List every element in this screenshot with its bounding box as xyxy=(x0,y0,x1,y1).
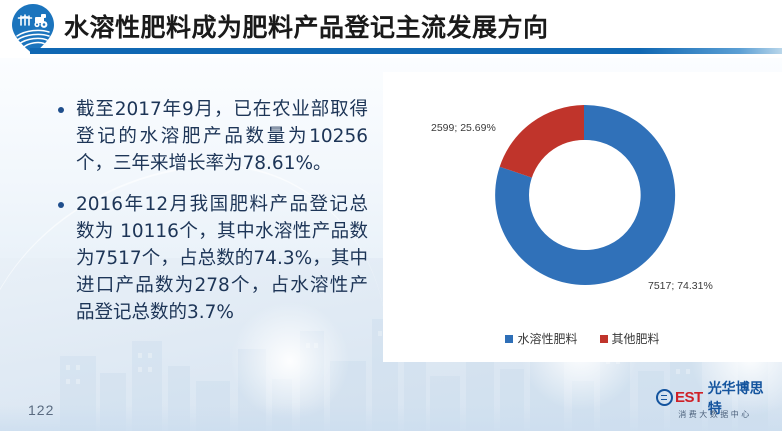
brand-est-text: EST xyxy=(675,389,703,406)
page-title: 水溶性肥料成为肥料产品登记主流发展方向 xyxy=(64,8,549,44)
donut-chart xyxy=(486,97,682,293)
legend-item-other[interactable]: 其他肥料 xyxy=(600,330,660,347)
chart-panel: 2599; 25.69% 7517; 74.31% 水溶性肥料 其他肥料 xyxy=(383,72,782,362)
data-label-other: 2599; 25.69% xyxy=(431,122,496,134)
data-label-water-soluble: 7517; 74.31% xyxy=(648,280,713,292)
brand-b-icon xyxy=(656,389,673,406)
brand-logo: EST 光华博思特 消费大数据中心 xyxy=(656,388,774,426)
legend-label: 水溶性肥料 xyxy=(517,330,577,347)
legend-label: 其他肥料 xyxy=(612,330,660,347)
legend-swatch-blue xyxy=(505,335,513,343)
title-divider-fade xyxy=(640,48,782,54)
slide-header: 水溶性肥料成为肥料产品登记主流发展方向 xyxy=(0,0,782,58)
chart-legend: 水溶性肥料 其他肥料 xyxy=(383,330,782,347)
bullet-list: 截至2017年9月，已在农业部取得登记的水溶肥产品数量为10256个，三年来增长… xyxy=(58,96,368,340)
page-number: 122 xyxy=(28,402,54,418)
legend-item-water-soluble[interactable]: 水溶性肥料 xyxy=(505,330,577,347)
bullet-item: 截至2017年9月，已在农业部取得登记的水溶肥产品数量为10256个，三年来增长… xyxy=(58,96,368,177)
legend-swatch-red xyxy=(600,335,608,343)
bullet-item: 2016年12月我国肥料产品登记总数为 10116个，其中水溶性产品数为7517… xyxy=(58,191,368,326)
slide: 水溶性肥料成为肥料产品登记主流发展方向 截至2017年9月，已在农业部取得登记的… xyxy=(0,0,782,431)
